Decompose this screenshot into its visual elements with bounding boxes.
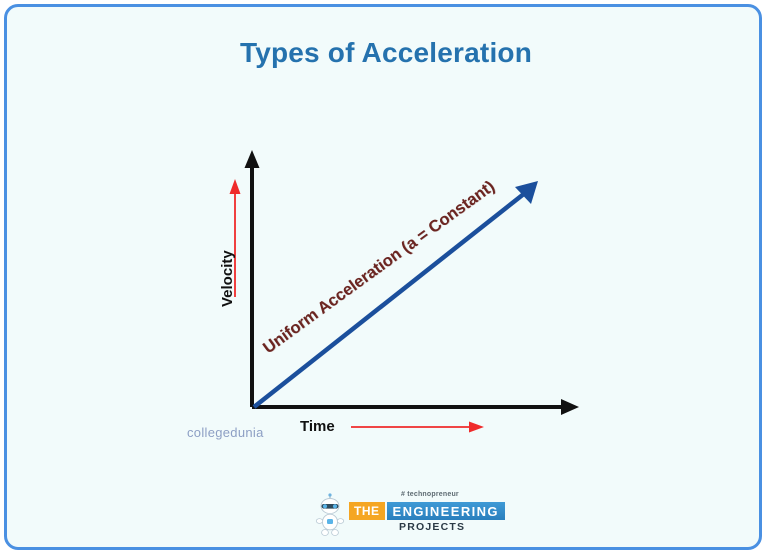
graph-svg bbox=[7, 7, 765, 553]
logo-the-badge: THE bbox=[349, 502, 385, 520]
acceleration-graph: Velocity Time Uniform Acceleration (a = … bbox=[7, 7, 765, 553]
y-axis-label: Velocity bbox=[219, 250, 236, 307]
uniform-acceleration-line bbox=[254, 181, 538, 407]
slide-canvas: Types of Acceleration bbox=[4, 4, 762, 550]
engineering-projects-logo: # technopreneur THE ENGINEERING PROJECTS bbox=[313, 491, 473, 539]
robot-mascot-icon bbox=[313, 493, 347, 537]
x-axis-label: Time bbox=[300, 418, 335, 435]
collegedunia-watermark: collegedunia bbox=[187, 425, 264, 440]
x-axis bbox=[252, 399, 579, 415]
logo-tagline: # technopreneur bbox=[401, 491, 459, 498]
y-axis bbox=[245, 150, 260, 407]
logo-engineering-badge: ENGINEERING bbox=[387, 502, 505, 520]
time-direction-arrow-icon bbox=[351, 422, 484, 433]
logo-wordmark: THE ENGINEERING bbox=[349, 502, 505, 520]
logo-projects-text: PROJECTS bbox=[399, 521, 465, 533]
